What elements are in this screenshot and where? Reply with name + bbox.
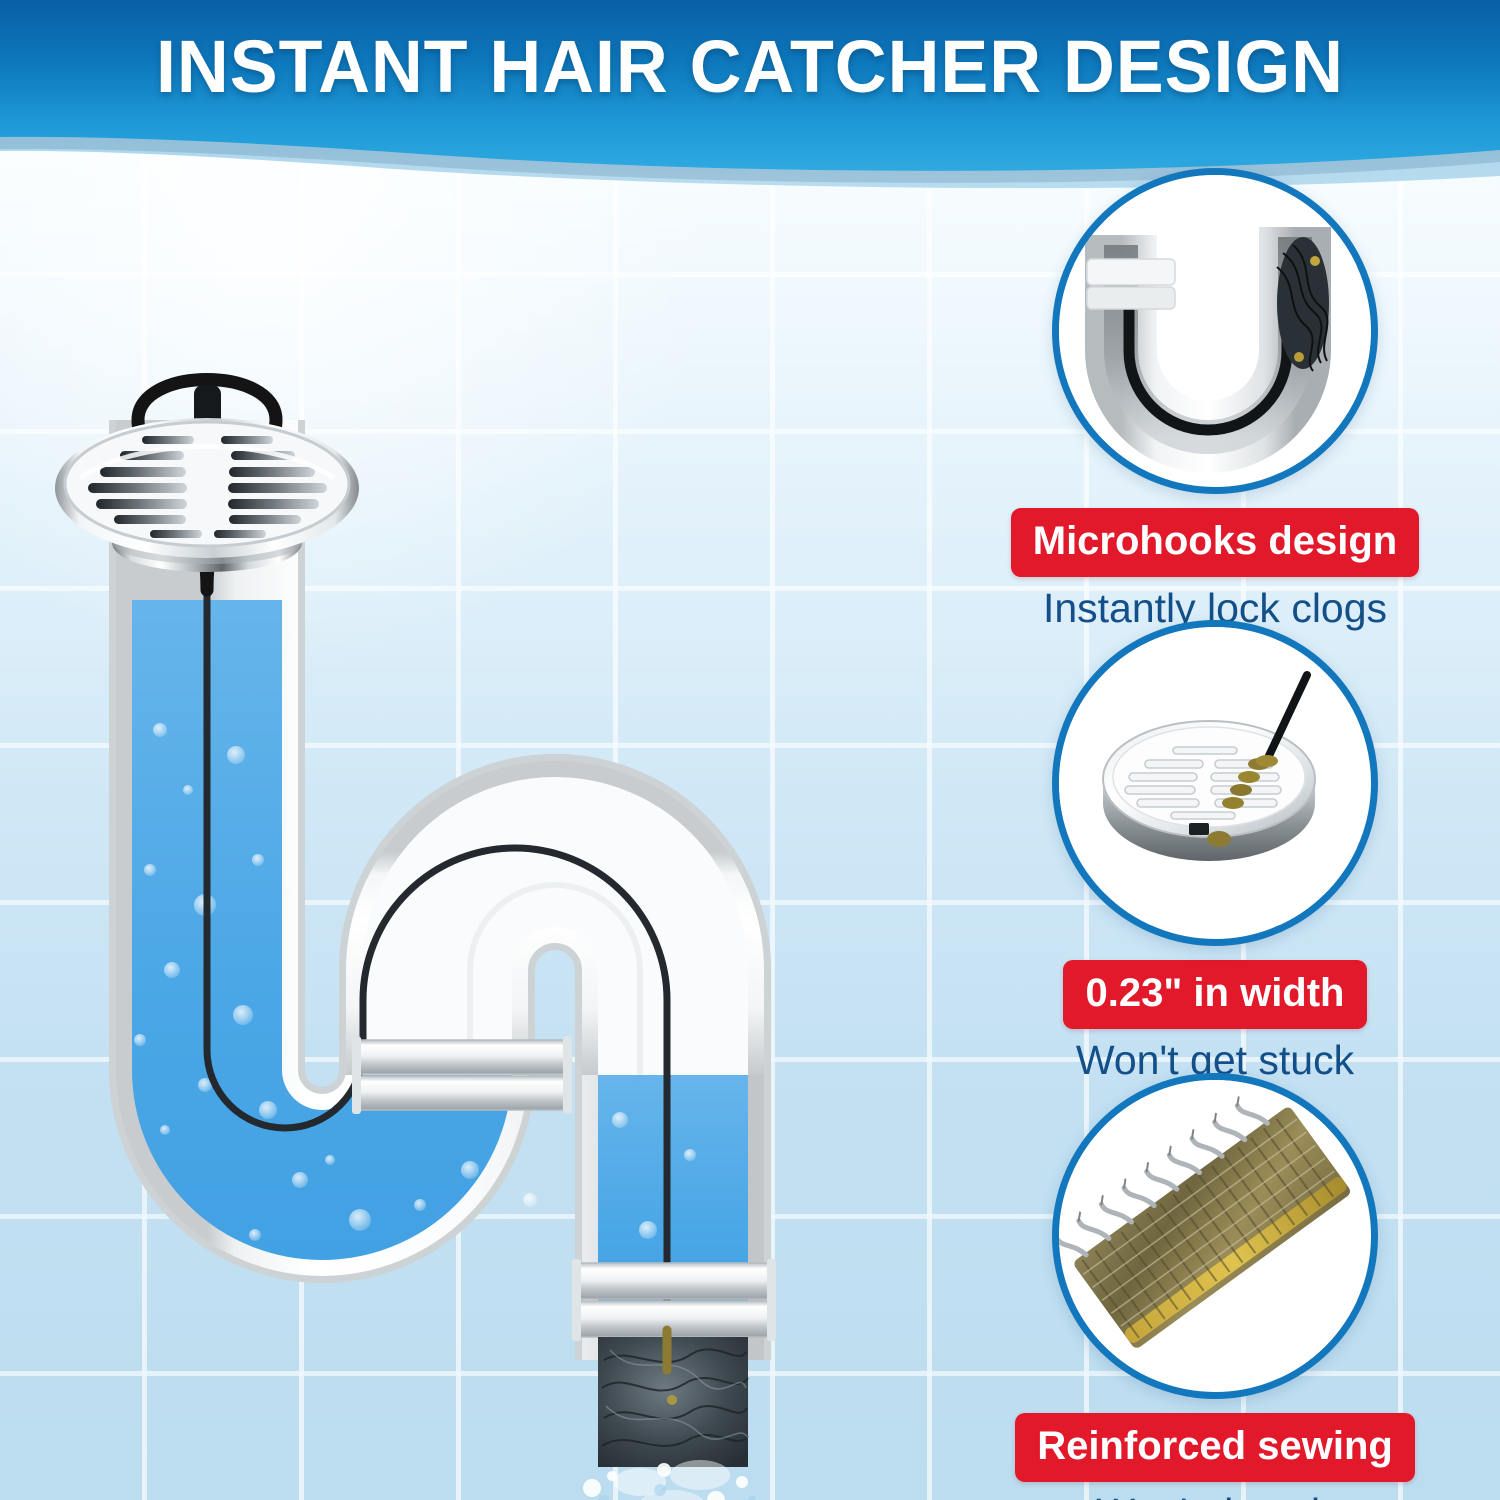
outlet-hair-clog bbox=[598, 1330, 748, 1467]
feature-microhooks: Microhooks design Instantly lock clogs bbox=[965, 168, 1465, 634]
feature-subline: Won't detach bbox=[965, 1487, 1465, 1500]
feature-badge: 0.23" in width bbox=[1063, 960, 1366, 1029]
photo-strainer-disc-with-probe bbox=[1052, 620, 1378, 946]
feature-badge: Reinforced sewing bbox=[1015, 1413, 1415, 1482]
feature-callout-column: Microhooks design Instantly lock clogs bbox=[965, 168, 1465, 1500]
feature-sewing: Reinforced sewing Won't detach bbox=[965, 1073, 1465, 1500]
drain-system-illustration bbox=[0, 170, 1000, 1500]
page-title: INSTANT HAIR CATCHER DESIGN bbox=[23, 22, 1478, 112]
feature-width: 0.23" in width Won't get stuck bbox=[965, 620, 1465, 1086]
product-infographic: INSTANT HAIR CATCHER DESIGN bbox=[0, 0, 1500, 1500]
photo-pipe-bend-with-trapped-hair bbox=[1052, 168, 1378, 494]
feature-badge: Microhooks design bbox=[1011, 508, 1420, 577]
drain-strainer-cap bbox=[55, 380, 359, 591]
photo-microhook-brush-macro bbox=[1052, 1073, 1378, 1399]
